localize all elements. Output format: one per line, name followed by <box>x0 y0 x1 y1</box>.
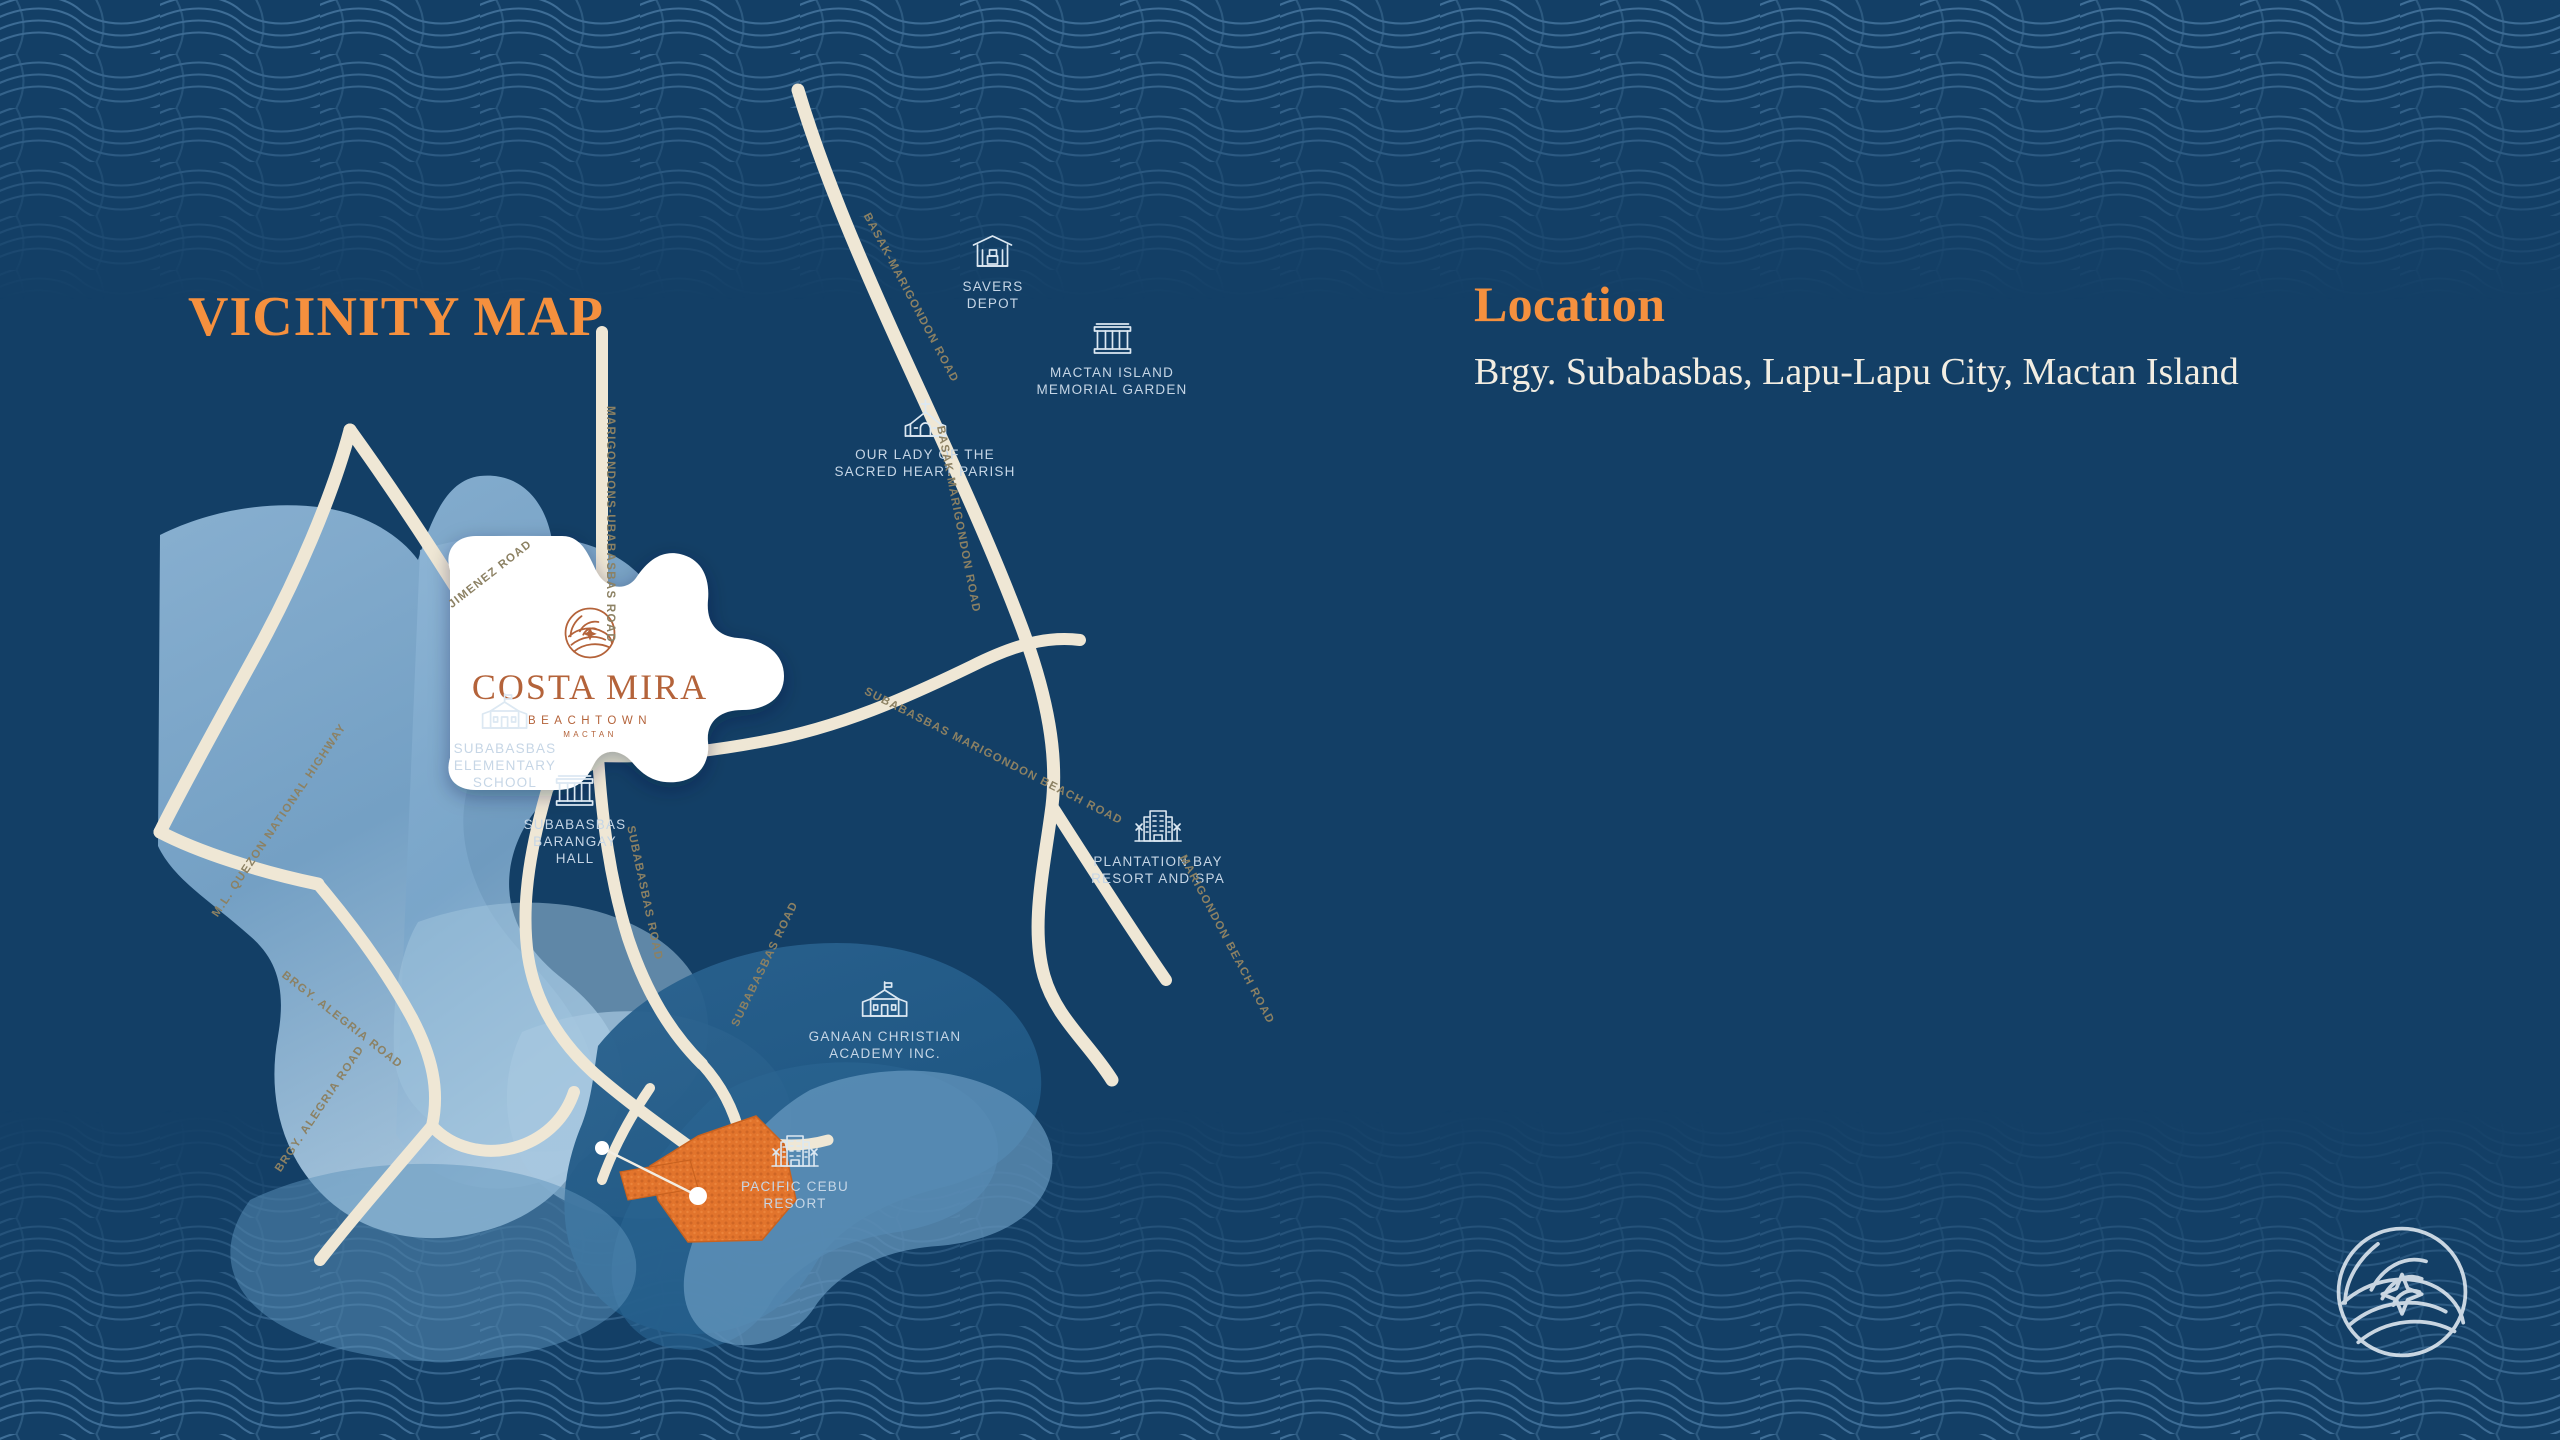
warehouse-icon <box>971 232 1015 272</box>
poi-pacific-cebu-resort[interactable]: PACIFIC CEBU RESORT <box>741 1130 849 1213</box>
poi-label: OUR LADY OF THE SACRED HEART PARISH <box>834 447 1015 481</box>
location-address: Brgy. Subabasbas, Lapu-Lapu City, Mactan… <box>1474 349 2264 397</box>
hotel-icon <box>770 1130 820 1172</box>
road-label-marigondons-ubabasbas-road: MARIGONDONS-UBABASBAS ROAD <box>604 406 616 643</box>
poi-subabasbas-brgy-hall[interactable]: SUBABASBAS BARANGAY HALL <box>524 770 627 868</box>
poi-label: MACTAN ISLAND MEMORIAL GARDEN <box>1036 365 1187 399</box>
poi-label: PLANTATION BAY RESORT AND SPA <box>1091 854 1225 888</box>
poi-savers-depot[interactable]: SAVERS DEPOT <box>963 232 1024 313</box>
hotel-icon <box>1133 805 1183 847</box>
project-sub-mactan: MACTAN <box>563 730 617 739</box>
brand-watermark-logo <box>2332 1222 2472 1362</box>
temple-icon <box>1091 318 1133 358</box>
location-block: Location Brgy. Subabasbas, Lapu-Lapu Cit… <box>1474 275 2354 397</box>
poi-label: SUBABASBAS BARANGAY HALL <box>524 817 627 868</box>
poi-mactan-memorial[interactable]: MACTAN ISLAND MEMORIAL GARDEN <box>1036 318 1187 399</box>
school-icon <box>861 980 909 1022</box>
school-icon <box>481 692 529 734</box>
wave-circle-icon <box>2332 1222 2472 1362</box>
poi-sacred-heart-parish[interactable]: OUR LADY OF THE SACRED HEART PARISH <box>834 398 1015 481</box>
vicinity-map[interactable]: COSTA MIRA BEACHTOWN MACTAN SAVERS DEPOT… <box>150 80 1430 1390</box>
road-basak-marigondon <box>798 90 1112 1080</box>
location-heading: Location <box>1474 275 2354 333</box>
temple-icon <box>554 770 596 810</box>
poi-label: SAVERS DEPOT <box>963 279 1024 313</box>
poi-label: GANAAN CHRISTIAN ACADEMY INC. <box>809 1029 962 1063</box>
poi-ganaan-academy[interactable]: GANAAN CHRISTIAN ACADEMY INC. <box>809 980 962 1063</box>
poi-label: PACIFIC CEBU RESORT <box>741 1179 849 1213</box>
